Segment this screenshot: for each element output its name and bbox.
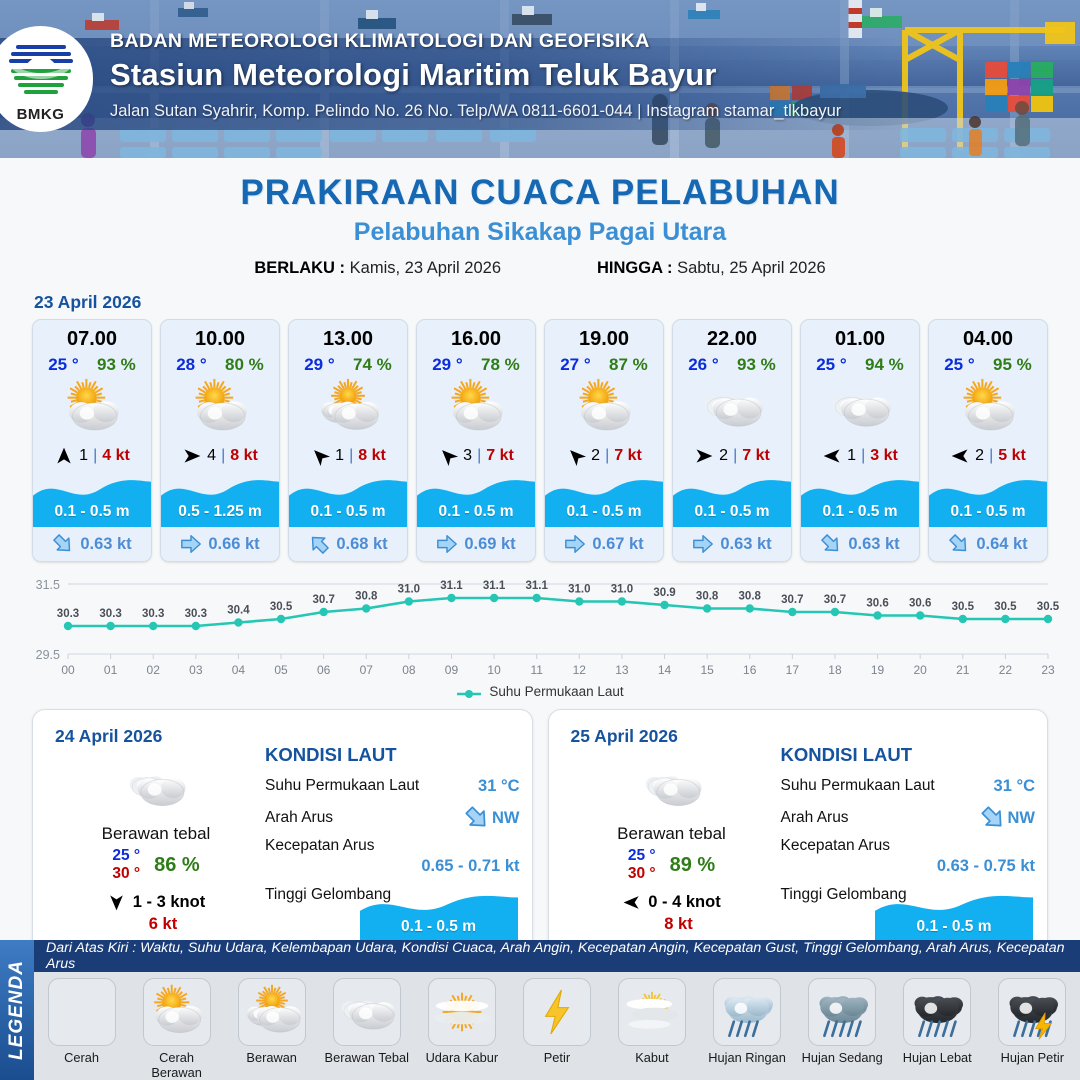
daily-forecast-panel: 25 April 2026 Berawan tebal 25 ° 30 ° 89…	[548, 709, 1049, 954]
current-speed-row: Kecepatan Arus 0.63 - 0.75 kt	[781, 837, 1036, 876]
current-direction-arrow-icon	[180, 533, 202, 555]
legend-item: Hujan Lebat	[894, 978, 980, 1065]
card-current: 0.63 kt	[33, 527, 151, 561]
svg-text:30.3: 30.3	[57, 608, 79, 620]
card-temperature: 25 °	[816, 355, 846, 375]
forecast-card: 10.00 28 ° 80 % 4 | 8 kt 0.5 - 1.25 m	[160, 319, 280, 562]
svg-text:17: 17	[786, 663, 800, 677]
legend-item-label: Hujan Sedang	[799, 1050, 885, 1065]
station-contact: Jalan Sutan Syahrir, Komp. Pelindo No. 2…	[110, 102, 1040, 121]
valid-from-value: Kamis, 23 April 2026	[350, 259, 501, 277]
daily-humidity: 89 %	[670, 854, 716, 877]
current-direction-value: NW	[492, 809, 520, 828]
svg-text:30.7: 30.7	[312, 594, 334, 606]
lightning-icon	[523, 978, 591, 1046]
daily-temp-min: 25 °	[112, 847, 140, 865]
svg-text:06: 06	[317, 663, 331, 677]
sst-legend-label: Suhu Permukaan Laut	[489, 684, 623, 699]
current-direction-label: Arah Arus	[781, 809, 849, 827]
legend-item-label: Cerah Berawan	[134, 1050, 220, 1080]
card-weather-icon	[673, 375, 791, 441]
valid-from: BERLAKU : Kamis, 23 April 2026	[254, 259, 501, 278]
wind-direction-arrow-icon	[107, 893, 126, 912]
svg-text:31.0: 31.0	[398, 584, 420, 596]
card-temperature: 27 °	[560, 355, 590, 375]
card-current-speed: 0.63 kt	[80, 535, 131, 554]
card-weather-icon	[289, 375, 407, 441]
card-time: 13.00	[289, 320, 407, 353]
card-wind-speed: 3	[463, 447, 472, 465]
wind-direction-arrow-icon	[438, 446, 458, 466]
card-time: 22.00	[673, 320, 791, 353]
card-gust: 8 kt	[230, 447, 258, 465]
svg-text:03: 03	[189, 663, 203, 677]
svg-text:30.5: 30.5	[952, 601, 975, 613]
card-wind-speed: 1	[335, 447, 344, 465]
legend-item-label: Berawan	[229, 1050, 315, 1065]
legend-items: Cerah Cerah Berawan Berawan	[34, 972, 1080, 1080]
legend-item-label: Udara Kabur	[419, 1050, 505, 1065]
card-wave-height: 0.1 - 0.5 m	[673, 503, 791, 521]
card-weather-icon	[161, 375, 279, 441]
legend-item-label: Hujan Petir	[989, 1050, 1075, 1065]
sea-condition-title: KONDISI LAUT	[781, 744, 1036, 766]
card-wave-height: 0.1 - 0.5 m	[417, 503, 535, 521]
svg-text:02: 02	[147, 663, 161, 677]
forecast-card: 13.00 29 ° 74 % 1 | 8 kt	[288, 319, 408, 562]
card-current: 0.67 kt	[545, 527, 663, 561]
forecast-card: 01.00 25 ° 94 % 1 | 3 kt	[800, 319, 920, 562]
card-current-speed: 0.66 kt	[208, 535, 259, 554]
svg-text:30.6: 30.6	[909, 598, 931, 610]
daily-gust: 8 kt	[581, 915, 777, 934]
svg-text:18: 18	[828, 663, 842, 677]
current-direction-arrow-icon	[308, 533, 330, 555]
legend-side-label: LEGENDA	[0, 940, 34, 1080]
card-gust: 4 kt	[102, 447, 130, 465]
daily-panels: 24 April 2026 Berawan tebal 25 ° 30 ° 86…	[0, 699, 1080, 954]
svg-text:30.3: 30.3	[99, 608, 121, 620]
current-direction-arrow-icon	[564, 533, 586, 555]
card-current: 0.64 kt	[929, 527, 1047, 561]
card-wind: 3 | 7 kt	[417, 441, 535, 471]
card-weather-icon	[929, 375, 1047, 441]
sst-legend-marker	[456, 687, 482, 697]
card-wind: 2 | 7 kt	[673, 441, 791, 471]
card-time: 19.00	[545, 320, 663, 353]
current-direction-arrow-icon	[464, 805, 490, 831]
moderate-rain-icon	[808, 978, 876, 1046]
svg-text:30.9: 30.9	[653, 587, 675, 599]
light-rain-icon	[713, 978, 781, 1046]
card-wave-height: 0.1 - 0.5 m	[33, 503, 151, 521]
wind-direction-arrow-icon	[310, 446, 330, 466]
legend-strip: LEGENDA Dari Atas Kiri : Waktu, Suhu Uda…	[0, 940, 1080, 1080]
svg-text:00: 00	[61, 663, 75, 677]
daily-wind: 1 - 3 knot	[51, 893, 261, 912]
svg-text:30.5: 30.5	[270, 601, 293, 613]
current-direction-arrow-icon	[436, 533, 458, 555]
card-current-speed: 0.64 kt	[976, 535, 1027, 554]
overcast-icon	[333, 978, 401, 1046]
card-wave-height: 0.1 - 0.5 m	[289, 503, 407, 521]
svg-text:30.5: 30.5	[1037, 601, 1060, 613]
card-wind-speed: 1	[847, 447, 856, 465]
daily-temp-max: 30 °	[628, 865, 656, 883]
card-gust: 5 kt	[998, 447, 1026, 465]
partly-cloudy-icon	[143, 978, 211, 1046]
svg-text:31.0: 31.0	[611, 584, 633, 596]
sst-value: 31 °C	[478, 777, 519, 796]
card-wind: 2 | 7 kt	[545, 441, 663, 471]
card-current: 0.69 kt	[417, 527, 535, 561]
validity-row: BERLAKU : Kamis, 23 April 2026 HINGGA : …	[0, 259, 1080, 278]
card-wind: 2 | 5 kt	[929, 441, 1047, 471]
card-humidity: 78 %	[481, 355, 520, 375]
station-name: Stasiun Meteorologi Maritim Teluk Bayur	[110, 57, 1040, 93]
page-header: BMKG BADAN METEOROLOGI KLIMATOLOGI DAN G…	[0, 0, 1080, 158]
card-wind-speed: 2	[591, 447, 600, 465]
svg-text:30.3: 30.3	[142, 608, 164, 620]
card-current-speed: 0.69 kt	[464, 535, 515, 554]
card-current-speed: 0.63 kt	[720, 535, 771, 554]
current-speed-label: Kecepatan Arus	[265, 837, 520, 855]
agency-name: BADAN METEOROLOGI KLIMATOLOGI DAN GEOFIS…	[110, 30, 1040, 53]
svg-text:29.5: 29.5	[36, 648, 60, 662]
card-wind-speed: 4	[207, 447, 216, 465]
forecast-card: 22.00 26 ° 93 % 2 | 7 kt	[672, 319, 792, 562]
card-time: 07.00	[33, 320, 151, 353]
card-temperature: 26 °	[688, 355, 718, 375]
svg-text:31.1: 31.1	[440, 580, 463, 592]
sunny-icon	[48, 978, 116, 1046]
legend-item: Kabut	[609, 978, 695, 1065]
legend-item-label: Berawan Tebal	[324, 1050, 410, 1065]
card-wind-speed: 2	[975, 447, 984, 465]
card-gust: 7 kt	[742, 447, 770, 465]
sst-chart-svg: 31.529.500010203040506070809101112131415…	[20, 572, 1060, 680]
wind-direction-arrow-icon	[622, 893, 641, 912]
valid-to: HINGGA : Sabtu, 25 April 2026	[597, 259, 826, 278]
valid-to-label: HINGGA :	[597, 259, 672, 277]
card-temperature: 29 °	[432, 355, 462, 375]
svg-text:11: 11	[530, 663, 543, 677]
svg-text:30.7: 30.7	[781, 594, 803, 606]
card-humidity: 74 %	[353, 355, 392, 375]
legend-item: Hujan Petir	[989, 978, 1075, 1065]
daily-weather-icon	[567, 760, 777, 816]
wind-direction-arrow-icon	[694, 446, 714, 466]
daily-wave-graphic: 0.1 - 0.5 m	[875, 889, 1033, 941]
card-current-speed: 0.67 kt	[592, 535, 643, 554]
card-humidity: 95 %	[993, 355, 1032, 375]
card-gust: 8 kt	[358, 447, 386, 465]
sst-row: Suhu Permukaan Laut 31 °C	[781, 773, 1036, 799]
svg-text:30.3: 30.3	[185, 608, 207, 620]
daily-forecast-panel: 24 April 2026 Berawan tebal 25 ° 30 ° 86…	[32, 709, 533, 954]
current-direction-arrow-icon	[948, 533, 970, 555]
card-current-speed: 0.63 kt	[848, 535, 899, 554]
wind-direction-arrow-icon	[182, 446, 202, 466]
card-wave: 0.1 - 0.5 m	[801, 473, 919, 527]
card-wave: 0.1 - 0.5 m	[33, 473, 151, 527]
legend-item-label: Petir	[514, 1050, 600, 1065]
svg-text:05: 05	[274, 663, 288, 677]
wind-direction-arrow-icon	[566, 446, 586, 466]
haze-icon	[428, 978, 496, 1046]
card-humidity: 87 %	[609, 355, 648, 375]
legend-item: Berawan Tebal	[324, 978, 410, 1065]
card-gust: 7 kt	[486, 447, 514, 465]
svg-text:31.0: 31.0	[568, 584, 590, 596]
card-gust: 3 kt	[870, 447, 898, 465]
svg-text:30.7: 30.7	[824, 594, 846, 606]
current-direction-label: Arah Arus	[265, 809, 333, 827]
card-wave: 0.5 - 1.25 m	[161, 473, 279, 527]
current-speed-row: Kecepatan Arus 0.65 - 0.71 kt	[265, 837, 520, 876]
svg-text:08: 08	[402, 663, 416, 677]
forecast-cards: 07.00 25 ° 93 % 1 | 4 kt 0.1 - 0.5 m	[0, 319, 1080, 562]
daily-wind: 0 - 4 knot	[567, 893, 777, 912]
card-time: 16.00	[417, 320, 535, 353]
card-wave: 0.1 - 0.5 m	[289, 473, 407, 527]
card-wind: 1 | 4 kt	[33, 441, 151, 471]
svg-text:12: 12	[573, 663, 587, 677]
card-time: 04.00	[929, 320, 1047, 353]
legend-item-label: Hujan Ringan	[704, 1050, 790, 1065]
bmkg-logo-icon	[4, 35, 78, 107]
page-title: PRAKIRAAN CUACA PELABUHAN	[0, 173, 1080, 213]
current-direction-arrow-icon	[52, 533, 74, 555]
svg-text:30.8: 30.8	[739, 591, 762, 603]
current-speed-value: 0.63 - 0.75 kt	[781, 857, 1036, 876]
svg-text:07: 07	[360, 663, 374, 677]
legend-item-label: Hujan Lebat	[894, 1050, 980, 1065]
svg-text:31.1: 31.1	[483, 580, 506, 592]
legend-note: Dari Atas Kiri : Waktu, Suhu Udara, Kele…	[34, 940, 1080, 972]
card-current: 0.68 kt	[289, 527, 407, 561]
daily-date: 25 April 2026	[571, 726, 678, 747]
daily-wave-value: 0.1 - 0.5 m	[360, 918, 518, 936]
card-current: 0.66 kt	[161, 527, 279, 561]
card-gust: 7 kt	[614, 447, 642, 465]
svg-text:23: 23	[1041, 663, 1055, 677]
svg-text:13: 13	[615, 663, 629, 677]
card-weather-icon	[801, 375, 919, 441]
current-direction-row: Arah Arus NW	[265, 805, 520, 831]
daily-temp-min: 25 °	[628, 847, 656, 865]
card-wind: 1 | 8 kt	[289, 441, 407, 471]
svg-text:19: 19	[871, 663, 885, 677]
current-direction-value: NW	[1008, 809, 1036, 828]
sea-condition-title: KONDISI LAUT	[265, 744, 520, 766]
card-wind: 1 | 3 kt	[801, 441, 919, 471]
page-subtitle: Pelabuhan Sikakap Pagai Utara	[0, 218, 1080, 247]
legend-item-label: Kabut	[609, 1050, 695, 1065]
card-time: 01.00	[801, 320, 919, 353]
svg-text:30.8: 30.8	[696, 591, 719, 603]
current-speed-label: Kecepatan Arus	[781, 837, 1036, 855]
svg-text:09: 09	[445, 663, 459, 677]
card-wind-speed: 1	[79, 447, 88, 465]
card-wave-height: 0.1 - 0.5 m	[929, 503, 1047, 521]
card-wave: 0.1 - 0.5 m	[929, 473, 1047, 527]
svg-text:21: 21	[956, 663, 970, 677]
heavy-rain-icon	[903, 978, 971, 1046]
card-wave: 0.1 - 0.5 m	[545, 473, 663, 527]
daily-wind-range: 1 - 3 knot	[133, 893, 205, 912]
svg-text:22: 22	[999, 663, 1013, 677]
forecast-date-label: 23 April 2026	[34, 292, 1080, 313]
bmkg-logo-text: BMKG	[4, 106, 78, 123]
card-wave: 0.1 - 0.5 m	[417, 473, 535, 527]
svg-text:10: 10	[487, 663, 501, 677]
svg-text:15: 15	[700, 663, 714, 677]
daily-wind-range: 0 - 4 knot	[648, 893, 720, 912]
card-humidity: 80 %	[225, 355, 264, 375]
daily-gust: 6 kt	[65, 915, 261, 934]
svg-text:31.5: 31.5	[36, 578, 60, 592]
daily-date: 24 April 2026	[55, 726, 162, 747]
svg-text:30.5: 30.5	[994, 601, 1017, 613]
legend-item: Cerah	[39, 978, 125, 1065]
wind-direction-arrow-icon	[950, 446, 970, 466]
wind-direction-arrow-icon	[822, 446, 842, 466]
current-direction-arrow-icon	[692, 533, 714, 555]
thunderstorm-icon	[998, 978, 1066, 1046]
sst-label: Suhu Permukaan Laut	[265, 777, 419, 795]
legend-item: Berawan	[229, 978, 315, 1065]
daily-wave-graphic: 0.1 - 0.5 m	[360, 889, 518, 941]
card-wave-height: 0.5 - 1.25 m	[161, 503, 279, 521]
forecast-card: 07.00 25 ° 93 % 1 | 4 kt 0.1 - 0.5 m	[32, 319, 152, 562]
legend-item: Hujan Sedang	[799, 978, 885, 1065]
legend-item-label: Cerah	[39, 1050, 125, 1065]
daily-weather-icon	[51, 760, 261, 816]
forecast-card: 04.00 25 ° 95 % 2 | 5 kt 0.1 - 0.5 m	[928, 319, 1048, 562]
card-wave-height: 0.1 - 0.5 m	[545, 503, 663, 521]
legend-item: Udara Kabur	[419, 978, 505, 1065]
legend-item: Hujan Ringan	[704, 978, 790, 1065]
card-temperature: 25 °	[944, 355, 974, 375]
card-weather-icon	[545, 375, 663, 441]
sst-chart: 31.529.500010203040506070809101112131415…	[0, 572, 1080, 682]
card-temperature: 25 °	[48, 355, 78, 375]
current-speed-value: 0.65 - 0.71 kt	[265, 857, 520, 876]
sst-label: Suhu Permukaan Laut	[781, 777, 935, 795]
daily-wave-value: 0.1 - 0.5 m	[875, 918, 1033, 936]
card-time: 10.00	[161, 320, 279, 353]
svg-text:04: 04	[232, 663, 246, 677]
svg-text:01: 01	[104, 663, 118, 677]
svg-text:31.1: 31.1	[526, 580, 549, 592]
svg-text:20: 20	[913, 663, 927, 677]
chart-legend: Suhu Permukaan Laut	[0, 684, 1080, 699]
card-weather-icon	[417, 375, 535, 441]
svg-text:16: 16	[743, 663, 757, 677]
card-humidity: 93 %	[737, 355, 776, 375]
sst-row: Suhu Permukaan Laut 31 °C	[265, 773, 520, 799]
card-wind: 4 | 8 kt	[161, 441, 279, 471]
card-temperature: 29 °	[304, 355, 334, 375]
card-humidity: 93 %	[97, 355, 136, 375]
forecast-card: 19.00 27 ° 87 % 2 | 7 kt 0.1 - 0.5 m	[544, 319, 664, 562]
svg-text:30.4: 30.4	[227, 605, 250, 617]
current-direction-arrow-icon	[980, 805, 1006, 831]
legend-item: Cerah Berawan	[134, 978, 220, 1080]
valid-to-value: Sabtu, 25 April 2026	[677, 259, 826, 277]
card-current: 0.63 kt	[673, 527, 791, 561]
card-current-speed: 0.68 kt	[336, 535, 387, 554]
card-wave-height: 0.1 - 0.5 m	[801, 503, 919, 521]
card-wave: 0.1 - 0.5 m	[673, 473, 791, 527]
card-current: 0.63 kt	[801, 527, 919, 561]
card-weather-icon	[33, 375, 151, 441]
valid-from-label: BERLAKU :	[254, 259, 345, 277]
forecast-card: 16.00 29 ° 78 % 3 | 7 kt 0.1 - 0.5 m	[416, 319, 536, 562]
card-temperature: 28 °	[176, 355, 206, 375]
svg-text:14: 14	[658, 663, 672, 677]
daily-temp-max: 30 °	[112, 865, 140, 883]
legend-item: Petir	[514, 978, 600, 1065]
sst-value: 31 °C	[994, 777, 1035, 796]
daily-humidity: 86 %	[154, 854, 200, 877]
svg-text:30.6: 30.6	[866, 598, 888, 610]
card-humidity: 94 %	[865, 355, 904, 375]
daily-condition: Berawan tebal	[567, 824, 777, 844]
daily-condition: Berawan tebal	[51, 824, 261, 844]
current-direction-arrow-icon	[820, 533, 842, 555]
card-wind-speed: 2	[719, 447, 728, 465]
current-direction-row: Arah Arus NW	[781, 805, 1036, 831]
svg-text:30.8: 30.8	[355, 591, 378, 603]
wind-direction-arrow-icon	[54, 446, 74, 466]
legend-side-text: LEGENDA	[6, 960, 28, 1060]
fog-icon	[618, 978, 686, 1046]
cloudy-sun-icon	[238, 978, 306, 1046]
